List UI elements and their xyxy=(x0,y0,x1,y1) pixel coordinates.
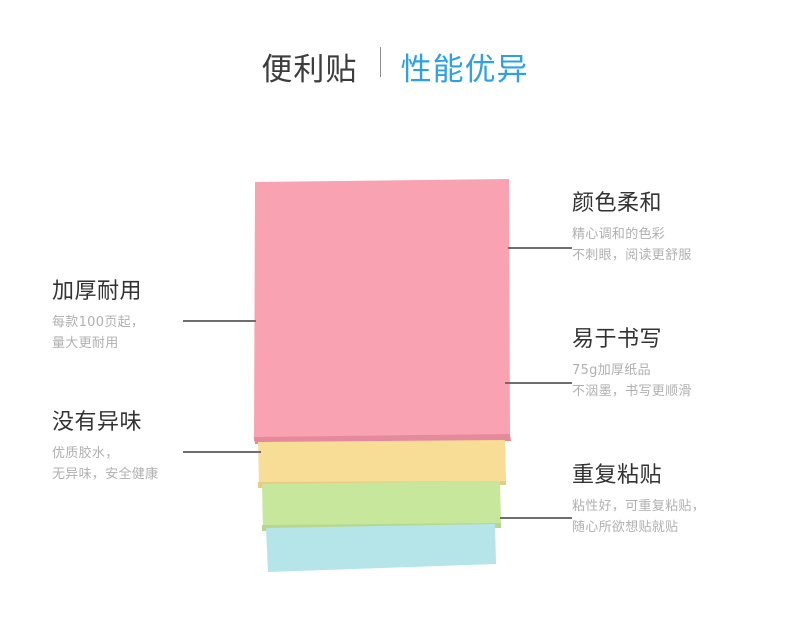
sticky-sheet-green-edge xyxy=(262,523,501,531)
title-sub-text: 性能优异 xyxy=(401,52,529,88)
callout-heading: 重复粘贴 xyxy=(572,462,705,490)
sticky-sheet-yellow xyxy=(258,440,506,488)
connector-line-thick-durable xyxy=(183,320,256,322)
callout-heading: 易于书写 xyxy=(572,326,692,354)
callout-subtext-line-2: 无异味，安全健康 xyxy=(52,464,158,485)
callout-easy-write: 易于书写 75g加厚纸品 不洇墨，书写更顺滑 xyxy=(572,326,692,402)
callout-subtext-line-2: 不洇墨，书写更顺滑 xyxy=(572,381,692,402)
callout-subtext-line-2: 量大更耐用 xyxy=(52,333,144,354)
title-main-text: 便利贴 xyxy=(261,52,357,88)
callout-restick: 重复粘贴 粘性好，可重复粘贴， 随心所欲想贴就贴 xyxy=(572,462,705,538)
callout-subtext-line-1: 粘性好，可重复粘贴， xyxy=(572,496,705,517)
callout-no-odor: 没有异味 优质胶水， 无异味，安全健康 xyxy=(52,409,158,485)
sticky-sheet-blue xyxy=(266,524,496,572)
callout-subtext-line-1: 每款100页起， xyxy=(52,312,144,333)
connector-line-soft-color xyxy=(508,247,572,249)
callout-subtext: 优质胶水， 无异味，安全健康 xyxy=(52,443,158,485)
callout-heading: 颜色柔和 xyxy=(572,190,692,218)
callout-subtext-line-2: 随心所欲想贴就贴 xyxy=(572,517,705,538)
connector-line-easy-write xyxy=(505,382,572,384)
callout-subtext-line-1: 75g加厚纸品 xyxy=(572,360,692,381)
page-title: 便利贴 性能优异 xyxy=(0,44,790,89)
callout-subtext: 每款100页起， 量大更耐用 xyxy=(52,312,144,354)
callout-subtext-line-1: 精心调和的色彩 xyxy=(572,224,692,245)
callout-subtext: 75g加厚纸品 不洇墨，书写更顺滑 xyxy=(572,360,692,402)
sticky-sheet-pink-edge xyxy=(254,434,511,444)
callout-subtext-line-2: 不刺眼，阅读更舒服 xyxy=(572,245,692,266)
callout-heading: 没有异味 xyxy=(52,409,158,437)
callout-soft-color: 颜色柔和 精心调和的色彩 不刺眼，阅读更舒服 xyxy=(572,190,692,266)
connector-line-no-odor xyxy=(183,451,261,453)
callout-heading: 加厚耐用 xyxy=(52,278,144,306)
title-separator xyxy=(380,47,381,77)
callout-subtext: 粘性好，可重复粘贴， 随心所欲想贴就贴 xyxy=(572,496,705,538)
callout-subtext-line-1: 优质胶水， xyxy=(52,443,158,464)
sticky-sheet-pink xyxy=(254,179,510,441)
connector-line-restick xyxy=(500,517,572,519)
callout-subtext: 精心调和的色彩 不刺眼，阅读更舒服 xyxy=(572,224,692,266)
sticky-sheet-yellow-edge xyxy=(258,481,506,488)
sticky-sheet-green xyxy=(262,481,501,531)
callout-thick-durable: 加厚耐用 每款100页起， 量大更耐用 xyxy=(52,278,144,354)
